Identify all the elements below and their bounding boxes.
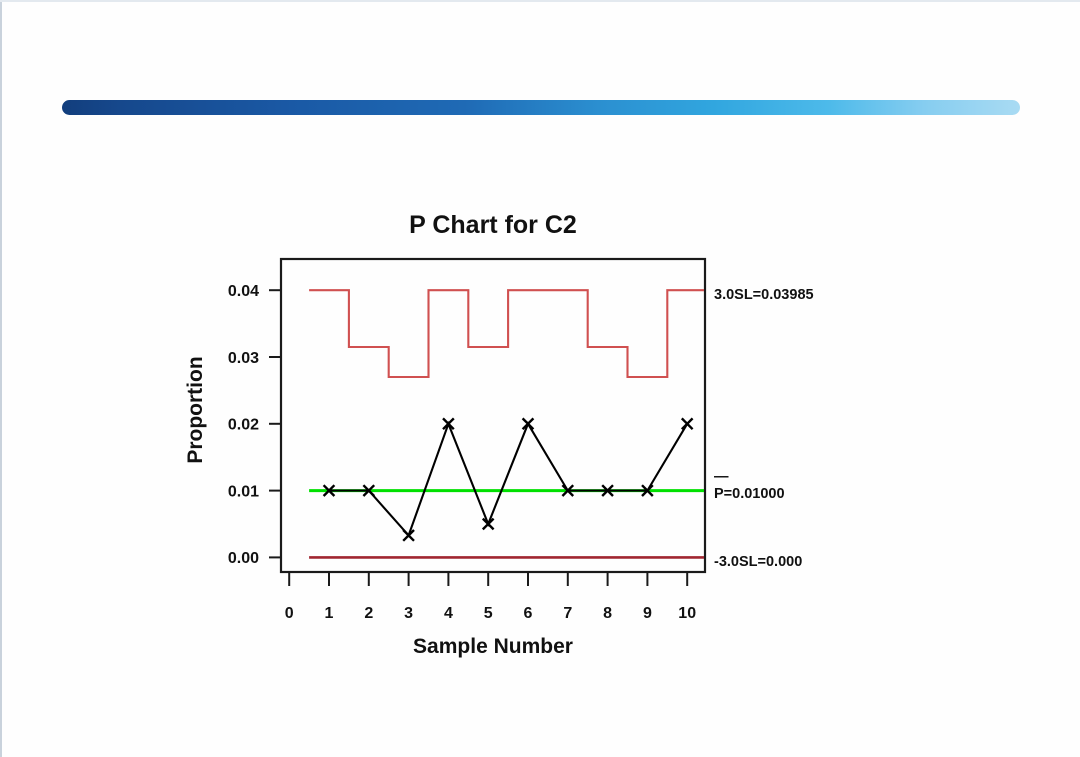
y-tick-label: 0.03 (228, 350, 259, 367)
y-axis-ticks (269, 290, 281, 557)
ucl-annotation: 3.0SL=0.03985 (714, 287, 814, 303)
y-axis-title: Proportion (184, 356, 207, 463)
center-overbar: — (714, 469, 729, 485)
slide-canvas: P Chart for C2 Proportion Sample Number … (0, 0, 1080, 757)
data-point-marker (403, 530, 414, 541)
x-axis-ticks (289, 572, 687, 586)
x-tick-label: 3 (404, 605, 413, 622)
data-series-line (329, 424, 687, 536)
x-tick-label: 5 (484, 605, 493, 622)
center-annotation: P=0.01000 (714, 486, 785, 502)
x-tick-label: 6 (524, 605, 533, 622)
p-chart-svg: P Chart for C2 Proportion Sample Number … (0, 0, 1080, 757)
ucl-step-line (309, 290, 707, 377)
lcl-annotation: -3.0SL=0.000 (714, 554, 802, 570)
x-tick-label: 7 (563, 605, 572, 622)
data-point-marker (682, 418, 693, 429)
x-tick-label: 2 (364, 605, 373, 622)
x-tick-label: 9 (643, 605, 652, 622)
y-tick-label: 0.02 (228, 417, 259, 434)
chart-title: P Chart for C2 (409, 211, 577, 239)
x-tick-label: 10 (678, 605, 696, 622)
x-axis-tick-labels: 0 1 2 3 4 5 6 7 8 9 10 (285, 605, 696, 622)
x-tick-label: 4 (444, 605, 453, 622)
x-tick-label: 0 (285, 605, 294, 622)
x-axis-title: Sample Number (413, 635, 573, 658)
x-tick-label: 8 (603, 605, 612, 622)
plot-frame (281, 259, 705, 572)
data-point-markers (324, 418, 693, 540)
y-tick-label: 0.04 (228, 283, 259, 300)
y-axis-tick-labels: 0.04 0.03 0.02 0.01 0.00 (228, 283, 259, 567)
data-point-marker (443, 418, 454, 429)
data-point-marker (523, 418, 534, 429)
data-point-marker (483, 519, 494, 530)
y-tick-label: 0.00 (228, 550, 259, 567)
y-tick-label: 0.01 (228, 483, 259, 500)
x-tick-label: 1 (325, 605, 334, 622)
p-chart-figure: P Chart for C2 Proportion Sample Number … (0, 0, 1080, 757)
